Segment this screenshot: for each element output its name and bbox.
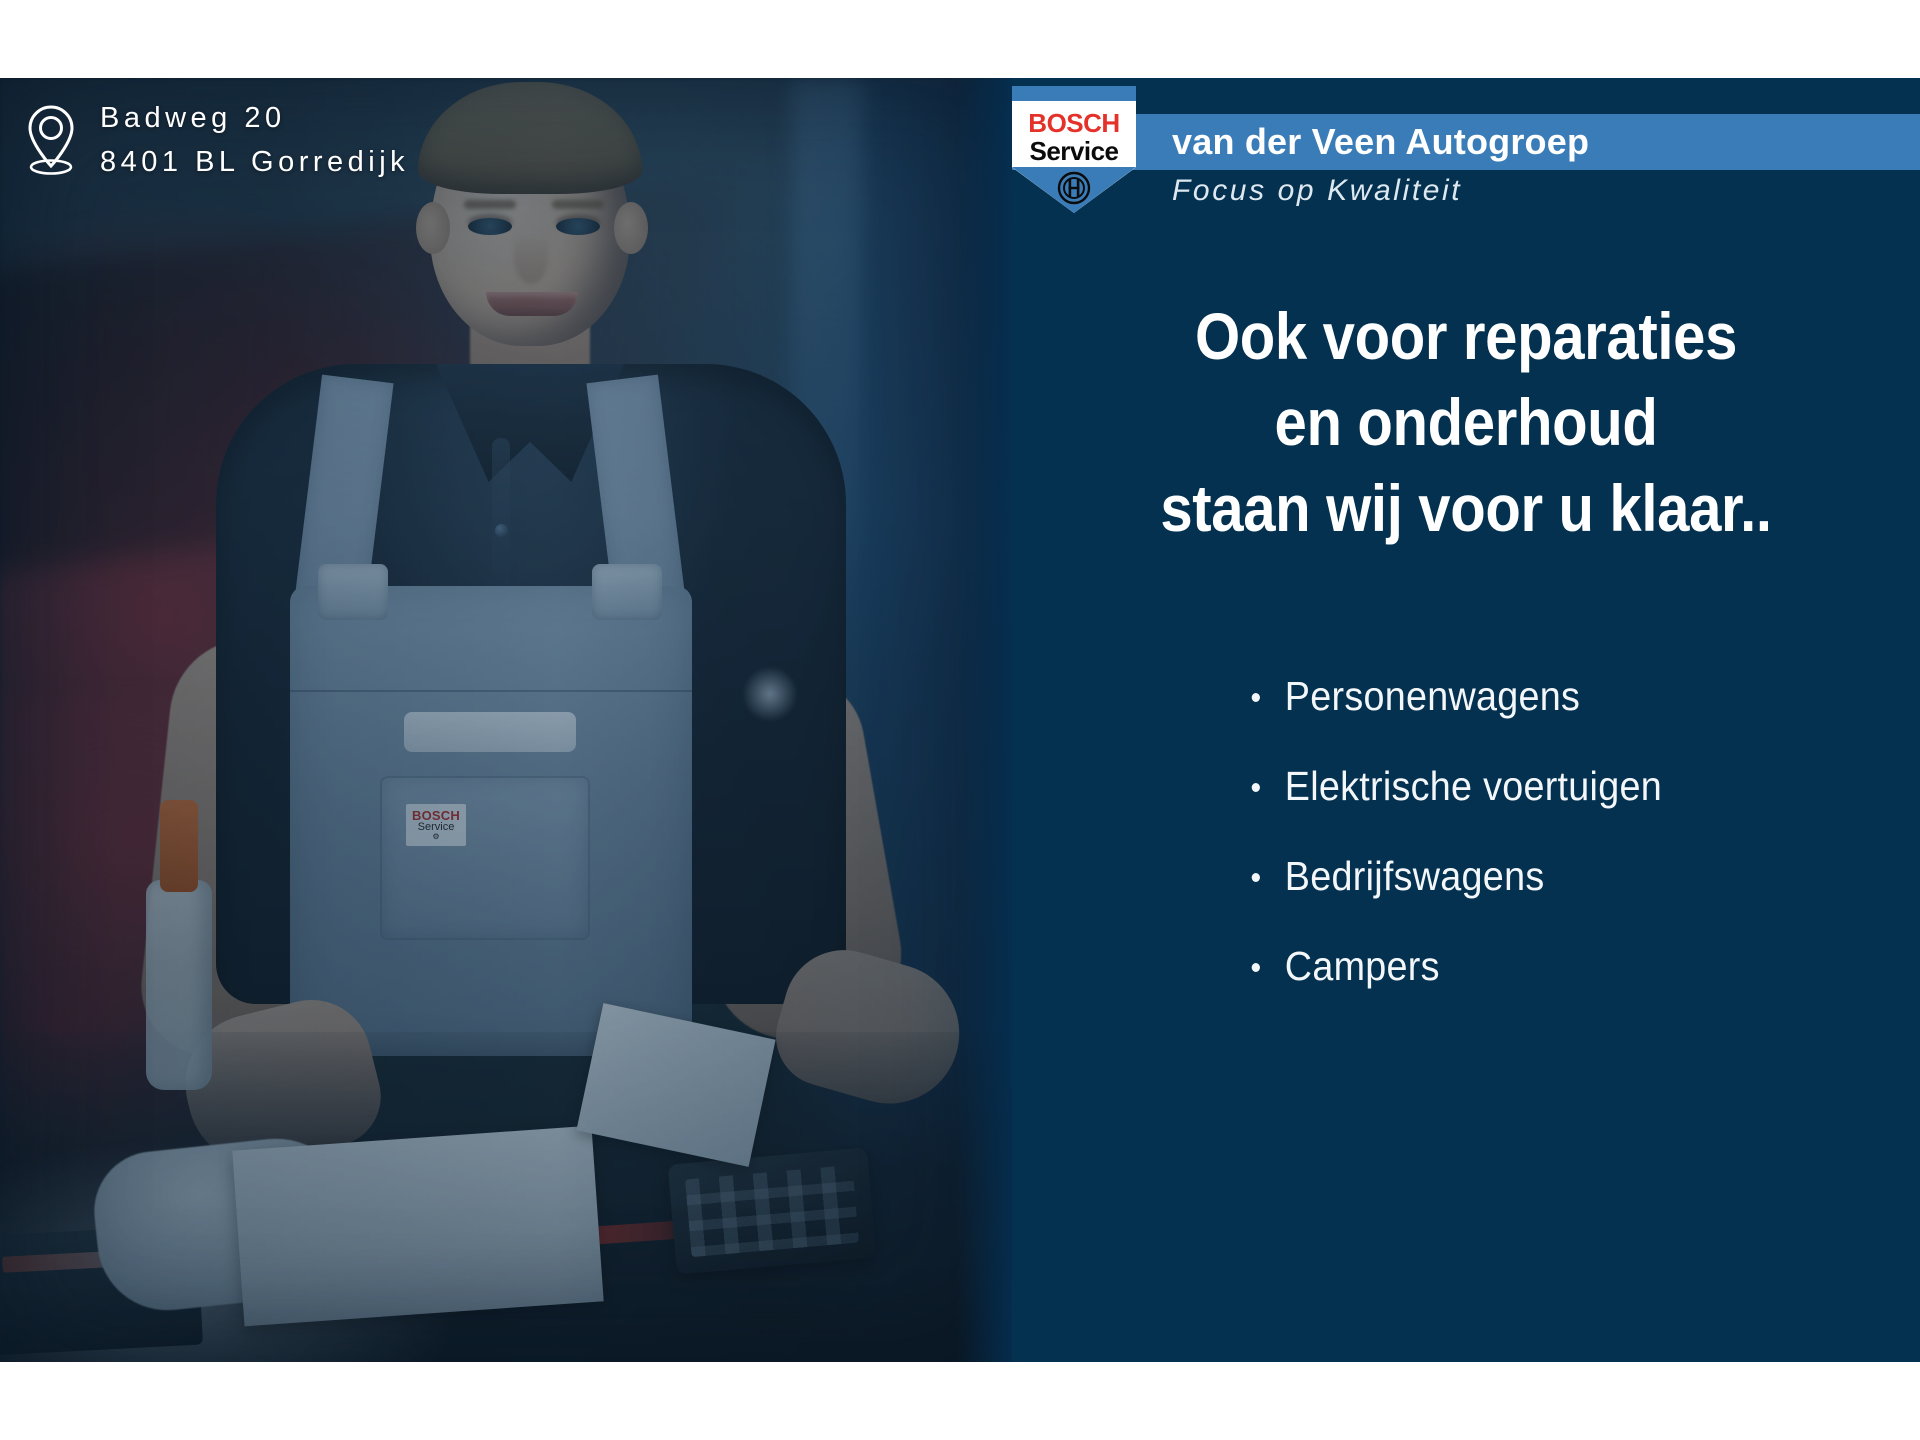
garage-mechanic-photo: BOSCH Service ⚙ [0, 78, 1012, 1362]
logo-word-bosch: BOSCH [1012, 110, 1136, 136]
service-item: Elektrische voertuigen [1248, 766, 1866, 807]
headline-line-3: staan wij voor u klaar.. [1066, 466, 1865, 552]
address-text: Badweg 20 8401 BL Gorredijk [100, 96, 409, 184]
headline: Ook voor reparaties en onderhoud staan w… [1066, 294, 1865, 551]
letterbox-bottom [0, 1362, 1920, 1440]
brand-tagline: Focus op Kwaliteit [1172, 174, 1462, 208]
logo-word-service: Service [1012, 138, 1136, 164]
location-block: Badweg 20 8401 BL Gorredijk [24, 96, 409, 184]
letterbox-top [0, 0, 1920, 78]
headline-line-2: en onderhoud [1066, 380, 1865, 466]
address-street: Badweg 20 [100, 102, 286, 134]
brand-lockup: BOSCH Service van der Veen Autogroep Foc… [1012, 78, 1920, 238]
map-pin-icon [24, 104, 78, 176]
headline-line-1: Ook voor reparaties [1066, 294, 1865, 380]
info-panel: BOSCH Service van der Veen Autogroep Foc… [1012, 78, 1920, 1362]
promo-slide: BOSCH Service ⚙ [0, 0, 1920, 1440]
address-city: 8401 BL Gorredijk [100, 146, 409, 178]
photo-vignette [0, 78, 1012, 1362]
bosch-armature-emblem-icon [1057, 171, 1091, 205]
company-name: van der Veen Autogroep [1172, 114, 1920, 170]
photo-panel-seam [956, 78, 1012, 1362]
services-list: Personenwagens Elektrische voertuigen Be… [1248, 676, 1920, 1036]
slide-stage: BOSCH Service ⚙ [0, 78, 1920, 1362]
service-item: Bedrijfswagens [1248, 856, 1866, 897]
bosch-service-logo: BOSCH Service [1012, 86, 1136, 213]
logo-cap [1012, 86, 1136, 101]
service-item: Campers [1248, 946, 1866, 987]
service-item: Personenwagens [1248, 676, 1866, 717]
